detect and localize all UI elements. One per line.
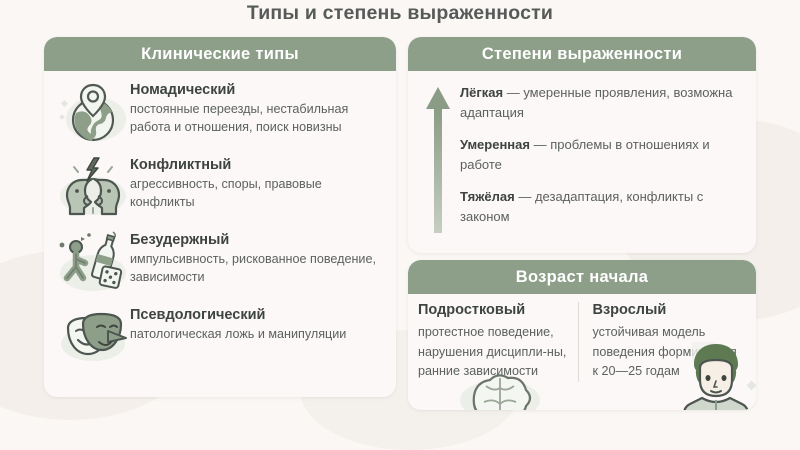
page-title: Типы и степень выраженности — [0, 2, 800, 25]
arguing-heads-icon — [56, 154, 130, 220]
list-item: Тяжёлая — дезадаптация, конфликты с зако… — [460, 187, 738, 226]
list-item-description: постоянные переезды, нестабильная работа… — [130, 100, 384, 137]
severity-line: Умеренная — проблемы в отношениях и рабо… — [460, 135, 738, 174]
clinical-types-body: Номадический постоянные переезды, нестаб… — [44, 71, 396, 370]
list-item: Номадический постоянные переезды, нестаб… — [56, 79, 384, 145]
list-item-description: патологическая ложь и манипуляции — [130, 325, 346, 343]
list-item-title: Безудержный — [130, 232, 384, 248]
list-item-text: Псевдологический патологическая ложь и м… — [130, 304, 346, 343]
severity-body: Лёгкая — умеренные проявления, возможна … — [408, 71, 756, 235]
theatre-masks-icon — [56, 304, 130, 370]
list-item-title: Номадический — [130, 82, 384, 98]
list-item-text: Безудержный импульсивность, рискованное … — [130, 229, 384, 287]
list-item: Умеренная — проблемы в отношениях и рабо… — [460, 135, 738, 174]
severity-header: Степени выраженности — [408, 37, 756, 71]
list-item-description: импульсивность, рискованное поведение, з… — [130, 250, 384, 287]
up-arrow-icon — [416, 81, 460, 235]
clinical-types-header: Клинические типы — [44, 37, 396, 71]
age-of-onset-body: Подростковый протестное поведение, наруш… — [408, 294, 756, 382]
severity-list: Лёгкая — умеренные проявления, возможна … — [460, 81, 738, 235]
age-column-title: Подростковый — [418, 302, 568, 318]
severity-card: Степени выраженности Лёгкая — умеренные … — [408, 37, 756, 253]
severity-name: Лёгкая — [460, 85, 503, 100]
severity-dash: — — [515, 189, 535, 204]
person-face-icon — [670, 338, 756, 410]
list-item-text: Номадический постоянные переезды, нестаб… — [130, 79, 384, 137]
age-of-onset-header: Возраст начала — [408, 260, 756, 294]
list-item-description: агрессивность, споры, правовые конфликты — [130, 175, 384, 212]
list-item: Безудержный импульсивность, рискованное … — [56, 229, 384, 295]
list-item-text: Конфликтный агрессивность, споры, правов… — [130, 154, 384, 212]
list-item-title: Конфликтный — [130, 157, 384, 173]
severity-dash: — — [530, 137, 550, 152]
severity-name: Умеренная — [460, 137, 530, 152]
globe-pin-icon — [56, 79, 130, 145]
severity-dash: — — [503, 85, 523, 100]
clinical-types-card: Клинические типы Номадический постоянные… — [44, 37, 396, 397]
list-item: Псевдологический патологическая ложь и м… — [56, 304, 384, 370]
age-column-title: Взрослый — [593, 302, 743, 318]
list-item: Конфликтный агрессивность, споры, правов… — [56, 154, 384, 220]
age-column-adolescent: Подростковый протестное поведение, наруш… — [418, 302, 578, 382]
severity-name: Тяжёлая — [460, 189, 515, 204]
age-of-onset-card: Возраст начала Подростковый протестное п… — [408, 260, 756, 410]
running-bottle-dice-icon — [56, 229, 130, 295]
brain-icon — [452, 360, 548, 410]
severity-line: Лёгкая — умеренные проявления, возможна … — [460, 83, 738, 122]
severity-line: Тяжёлая — дезадаптация, конфликты с зако… — [460, 187, 738, 226]
list-item-title: Псевдологический — [130, 307, 346, 323]
list-item: Лёгкая — умеренные проявления, возможна … — [460, 83, 738, 122]
